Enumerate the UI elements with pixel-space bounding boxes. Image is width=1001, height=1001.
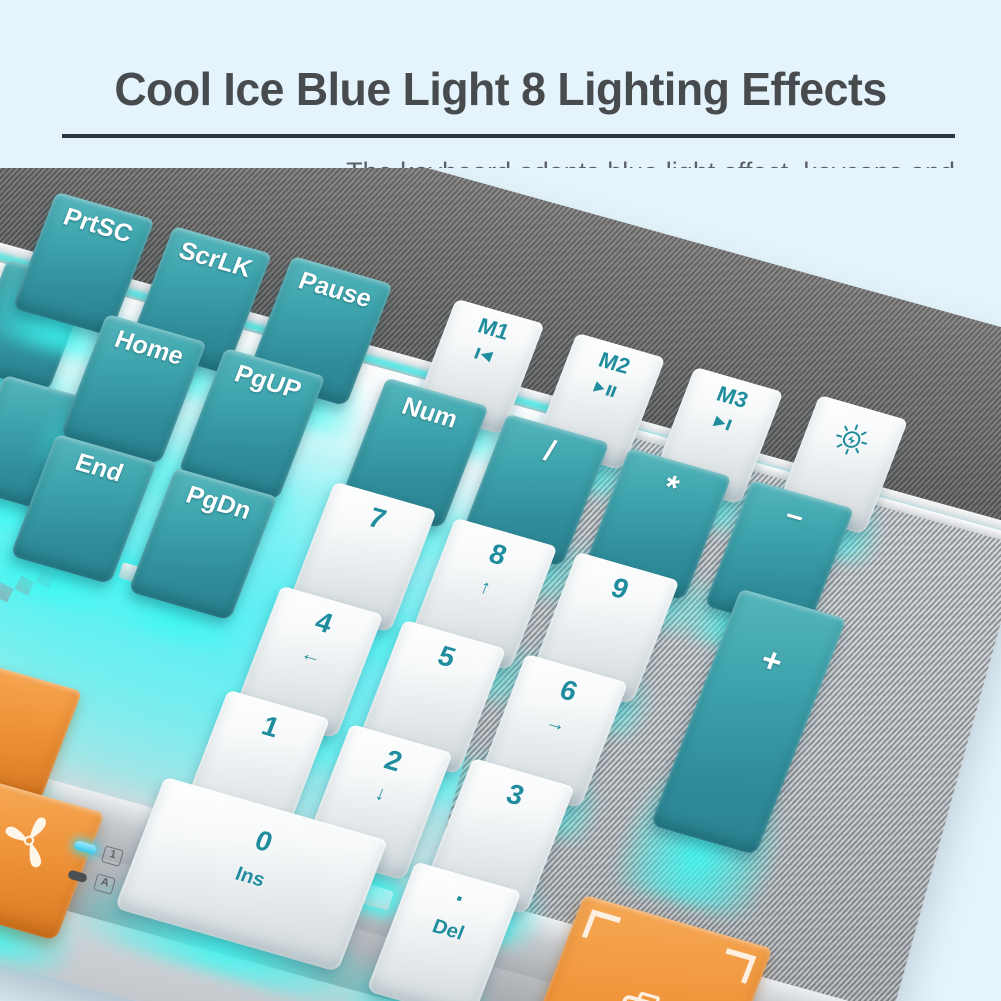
title-divider bbox=[62, 134, 955, 138]
page-title: Cool Ice Blue Light 8 Lighting Effects bbox=[15, 62, 986, 116]
key-fan-upper[interactable] bbox=[0, 659, 82, 802]
product-banner: Cool Ice Blue Light 8 Lighting Effects T… bbox=[0, 0, 1001, 1001]
keycap-layer: ◆◆◆ ns PrtSC ScrLK bbox=[0, 168, 1001, 1001]
product-photo: ◆◆◆ ns PrtSC ScrLK bbox=[0, 168, 1001, 1001]
keycap-surface bbox=[0, 659, 82, 802]
